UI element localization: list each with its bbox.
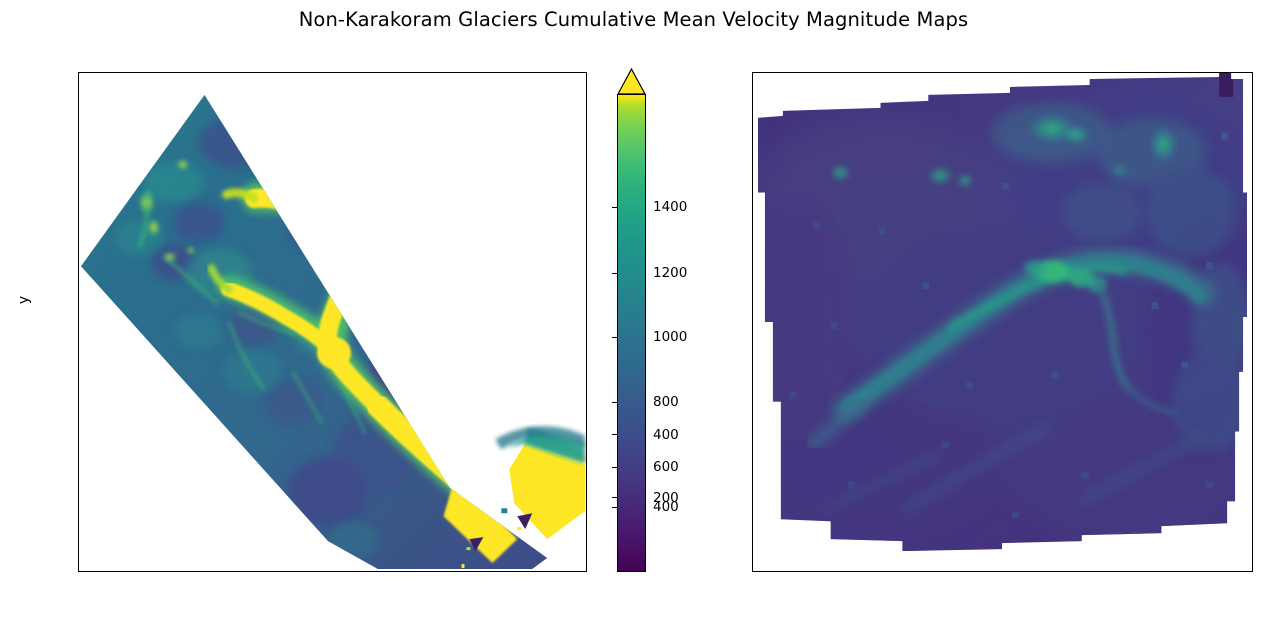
colorbar-tick-1400 — [612, 207, 617, 208]
colorbar-gradient — [617, 94, 646, 572]
y-tick-left-4 — [78, 259, 79, 260]
alaskan-velocity-raster — [79, 73, 586, 571]
y-axis-label-left: y — [16, 280, 32, 320]
x-tick-right-5 — [1147, 571, 1148, 572]
tajikistan-velocity-raster — [753, 73, 1252, 571]
y-tick-left-1 — [78, 448, 79, 449]
y-tick-left-2 — [78, 385, 79, 386]
y-tick-left-0 — [78, 511, 79, 512]
colorbar-tick-600 — [612, 467, 617, 468]
x-tick-left-6 — [489, 571, 490, 572]
x-tick-left-0 — [121, 571, 122, 572]
colorbar-ticklabel-800: 800 — [653, 394, 679, 410]
x-tick-right-2 — [935, 571, 936, 572]
x-tick-left-3 — [305, 571, 306, 572]
y-tick-left-3 — [78, 322, 79, 323]
colorbar[interactable]: 1400 1200 1000 800 600 400 — [617, 68, 647, 574]
colorbar-ticklabel-1200: 1200 — [653, 265, 687, 281]
colorbar-ticklabel-1400: 1400 — [653, 199, 687, 215]
y-tick-left-6 — [78, 133, 79, 134]
y-tick-right-4 — [752, 202, 753, 203]
x-tick-left-7 — [550, 571, 551, 572]
x-tick-right-3 — [1006, 571, 1007, 572]
x-tick-left-5 — [427, 571, 428, 572]
axes-tajikistan-glacier[interactable]: Tajikistan Glacier 1e6 — [752, 72, 1253, 572]
x-tick-right-4 — [1076, 571, 1077, 572]
y-tick-right-1 — [752, 439, 753, 440]
y-tick-left-5 — [78, 196, 79, 197]
colorbar-tick-400 — [612, 507, 617, 508]
colorbar-ticklabel-400-text: 400 — [653, 427, 679, 443]
y-tick-right-5 — [752, 114, 753, 115]
x-tick-right-1 — [865, 571, 866, 572]
y-tick-right-0 — [752, 527, 753, 528]
y-tick-right-3 — [752, 290, 753, 291]
colorbar-ticklabel-1000: 1000 — [653, 329, 687, 345]
figure-suptitle: Non-Karakoram Glaciers Cumulative Mean V… — [0, 8, 1267, 31]
colorbar-extend-max-arrow — [617, 68, 646, 95]
colorbar-tick-400-mark — [612, 434, 617, 435]
y-tick-right-2 — [752, 351, 753, 352]
colorbar-ticklabel-200-text: 200 — [653, 490, 679, 506]
x-tick-right-6 — [1217, 571, 1218, 572]
colorbar-tick-800 — [612, 402, 617, 403]
colorbar-tick-1000 — [612, 337, 617, 338]
axes-alaskan-glacier[interactable]: Alaskan Glacier 1e6 — [78, 72, 587, 572]
colorbar-ticklabel-600: 600 — [653, 459, 679, 475]
colorbar-tick-1200 — [612, 273, 617, 274]
x-tick-left-4 — [366, 571, 367, 572]
x-tick-left-1 — [182, 571, 183, 572]
x-tick-left-2 — [243, 571, 244, 572]
x-tick-right-0 — [794, 571, 795, 572]
figure-canvas: Non-Karakoram Glaciers Cumulative Mean V… — [0, 0, 1267, 628]
colorbar-tick-200-mark — [612, 497, 617, 498]
